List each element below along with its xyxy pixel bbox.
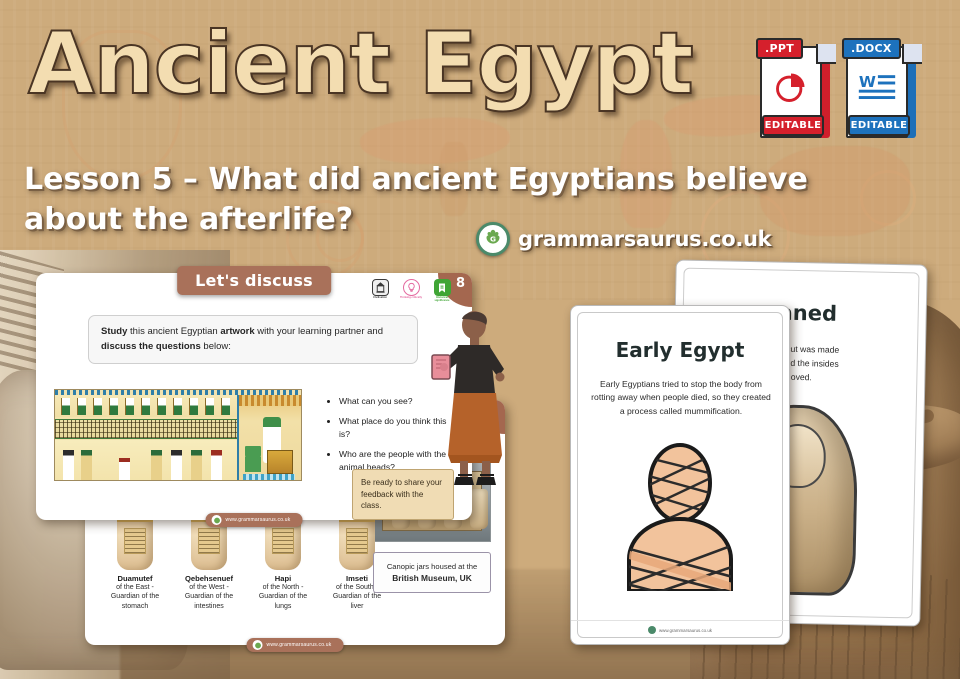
card-footer: www.grammarsaurus.co.uk [571,620,789,634]
page-fold-icon [816,44,836,64]
study-plain-2: with your learning partner and [255,326,383,337]
canopic-jar-icon [117,512,153,570]
civilisation-icon [372,279,389,296]
docx-editable-label: EDITABLE [848,115,910,136]
slide-card-lets-discuss[interactable]: 8 Let's discuss Civilisation Thinking cr… [36,273,472,520]
word-doc-icon: W [846,64,908,110]
grammarsaurus-dino-icon [212,515,222,525]
docx-editable-badge[interactable]: W .DOCX EDITABLE [846,38,920,140]
early-egypt-body: Early Egyptians tried to stop the body f… [589,378,773,418]
study-bold-1: Study [101,326,127,337]
page-fold-icon [902,44,922,64]
svg-text:W: W [859,73,876,91]
artwork-hieroglyph-band [55,419,237,439]
docx-extension-label: .DOCX [842,38,901,59]
jar-desc-line-3: liver [323,602,391,611]
canopic-jar-item[interactable]: Duamutef of the East - Guardian of the s… [101,512,169,611]
artwork-osiris-shrine [237,395,301,481]
skill-thinking-critically-label: Thinking critically [400,297,422,300]
study-plain-3: below: [201,341,231,352]
subtitle-line-1: Lesson 5 – What did ancient Egyptians be… [24,162,808,197]
resource-card-early-egypt[interactable]: Early Egypt Early Egyptians tried to sto… [570,305,790,645]
water-pattern [243,474,295,480]
historical-significance-icon [434,279,451,296]
shrine-cornice [239,395,301,406]
museum-note-line-2: British Museum, UK [392,573,472,583]
study-plain-1: this ancient Egyptian [127,326,220,337]
canopic-jar-icon [339,512,375,570]
jar-desc-line-2: Guardian of the [101,592,169,601]
teacher-illustration [430,303,514,503]
jar-desc-line-1: of the West - [175,583,243,592]
grammarsaurus-dot-icon [648,626,656,634]
museum-credit-note: Canopic jars housed at the British Museu… [373,552,491,593]
jar-desc-line-1: of the East - [101,583,169,592]
svg-text:G: G [490,234,496,243]
jar-name: Qebehsenuef [175,574,243,583]
jar-desc-line-1: of the North - [249,583,317,592]
jar-name: Hapi [249,574,317,583]
artwork-judgement-scene [55,440,237,481]
thinking-critically-icon [403,279,420,296]
file-type-badges: .PPT EDITABLE W .DOCX EDITABLE [760,38,920,140]
jars-footer-url: www.grammarsaurus.co.uk [267,642,332,648]
brand-text: grammarsaurus.co.uk [518,227,771,251]
jar-desc-line-2: Guardian of the [323,592,391,601]
ppt-editable-label: EDITABLE [762,115,824,136]
jar-hieroglyph-panel [346,528,368,554]
early-egypt-title: Early Egypt [571,338,789,362]
page-title: Ancient Egypt [28,24,728,106]
brand-logo[interactable]: G grammarsaurus.co.uk [476,222,771,256]
skill-historical-significance[interactable]: Historical significance [430,279,454,303]
slide-footer-url: www.grammarsaurus.co.uk [226,517,291,523]
jar-hieroglyph-panel [124,528,146,554]
grammarsaurus-dino-icon [253,640,263,650]
study-instruction-box: Study this ancient Egyptian artwork with… [88,315,418,364]
study-bold-3: discuss the questions [101,341,201,352]
skill-civilisation[interactable]: Civilisation [368,279,392,303]
pie-chart-icon [760,64,822,110]
artwork-row-of-gods [55,395,237,417]
jar-hieroglyph-panel [272,528,294,554]
grammarsaurus-dino-icon: G [476,222,510,256]
ppt-editable-badge[interactable]: .PPT EDITABLE [760,38,834,140]
throne-shape [267,450,293,474]
jar-desc-line-2: Guardian of the [249,592,317,601]
skill-thinking-critically[interactable]: Thinking critically [399,279,423,303]
jar-desc-line-3: lungs [249,602,317,611]
slide-footer-url-pill[interactable]: www.grammarsaurus.co.uk [206,513,303,527]
museum-note-line-1: Canopic jars housed at the [380,561,484,572]
skill-civilisation-label: Civilisation [373,297,387,300]
ppt-extension-label: .PPT [756,38,803,59]
jar-desc-line-2: Guardian of the [175,592,243,601]
study-bold-2: artwork [220,326,254,337]
jars-footer-url-pill[interactable]: www.grammarsaurus.co.uk [247,638,344,652]
jar-desc-line-3: intestines [175,602,243,611]
jar-name: Duamutef [101,574,169,583]
lets-discuss-banner: Let's discuss [177,266,331,295]
lotus-icon [245,446,261,472]
early-card-footer-url: www.grammarsaurus.co.uk [659,628,712,633]
mummy-illustration [605,441,755,591]
jar-desc-line-3: stomach [101,602,169,611]
skill-icons: Civilisation Thinking critically Histori… [368,279,454,303]
book-of-the-dead-artwork[interactable] [54,389,302,481]
jar-hieroglyph-panel [198,528,220,554]
